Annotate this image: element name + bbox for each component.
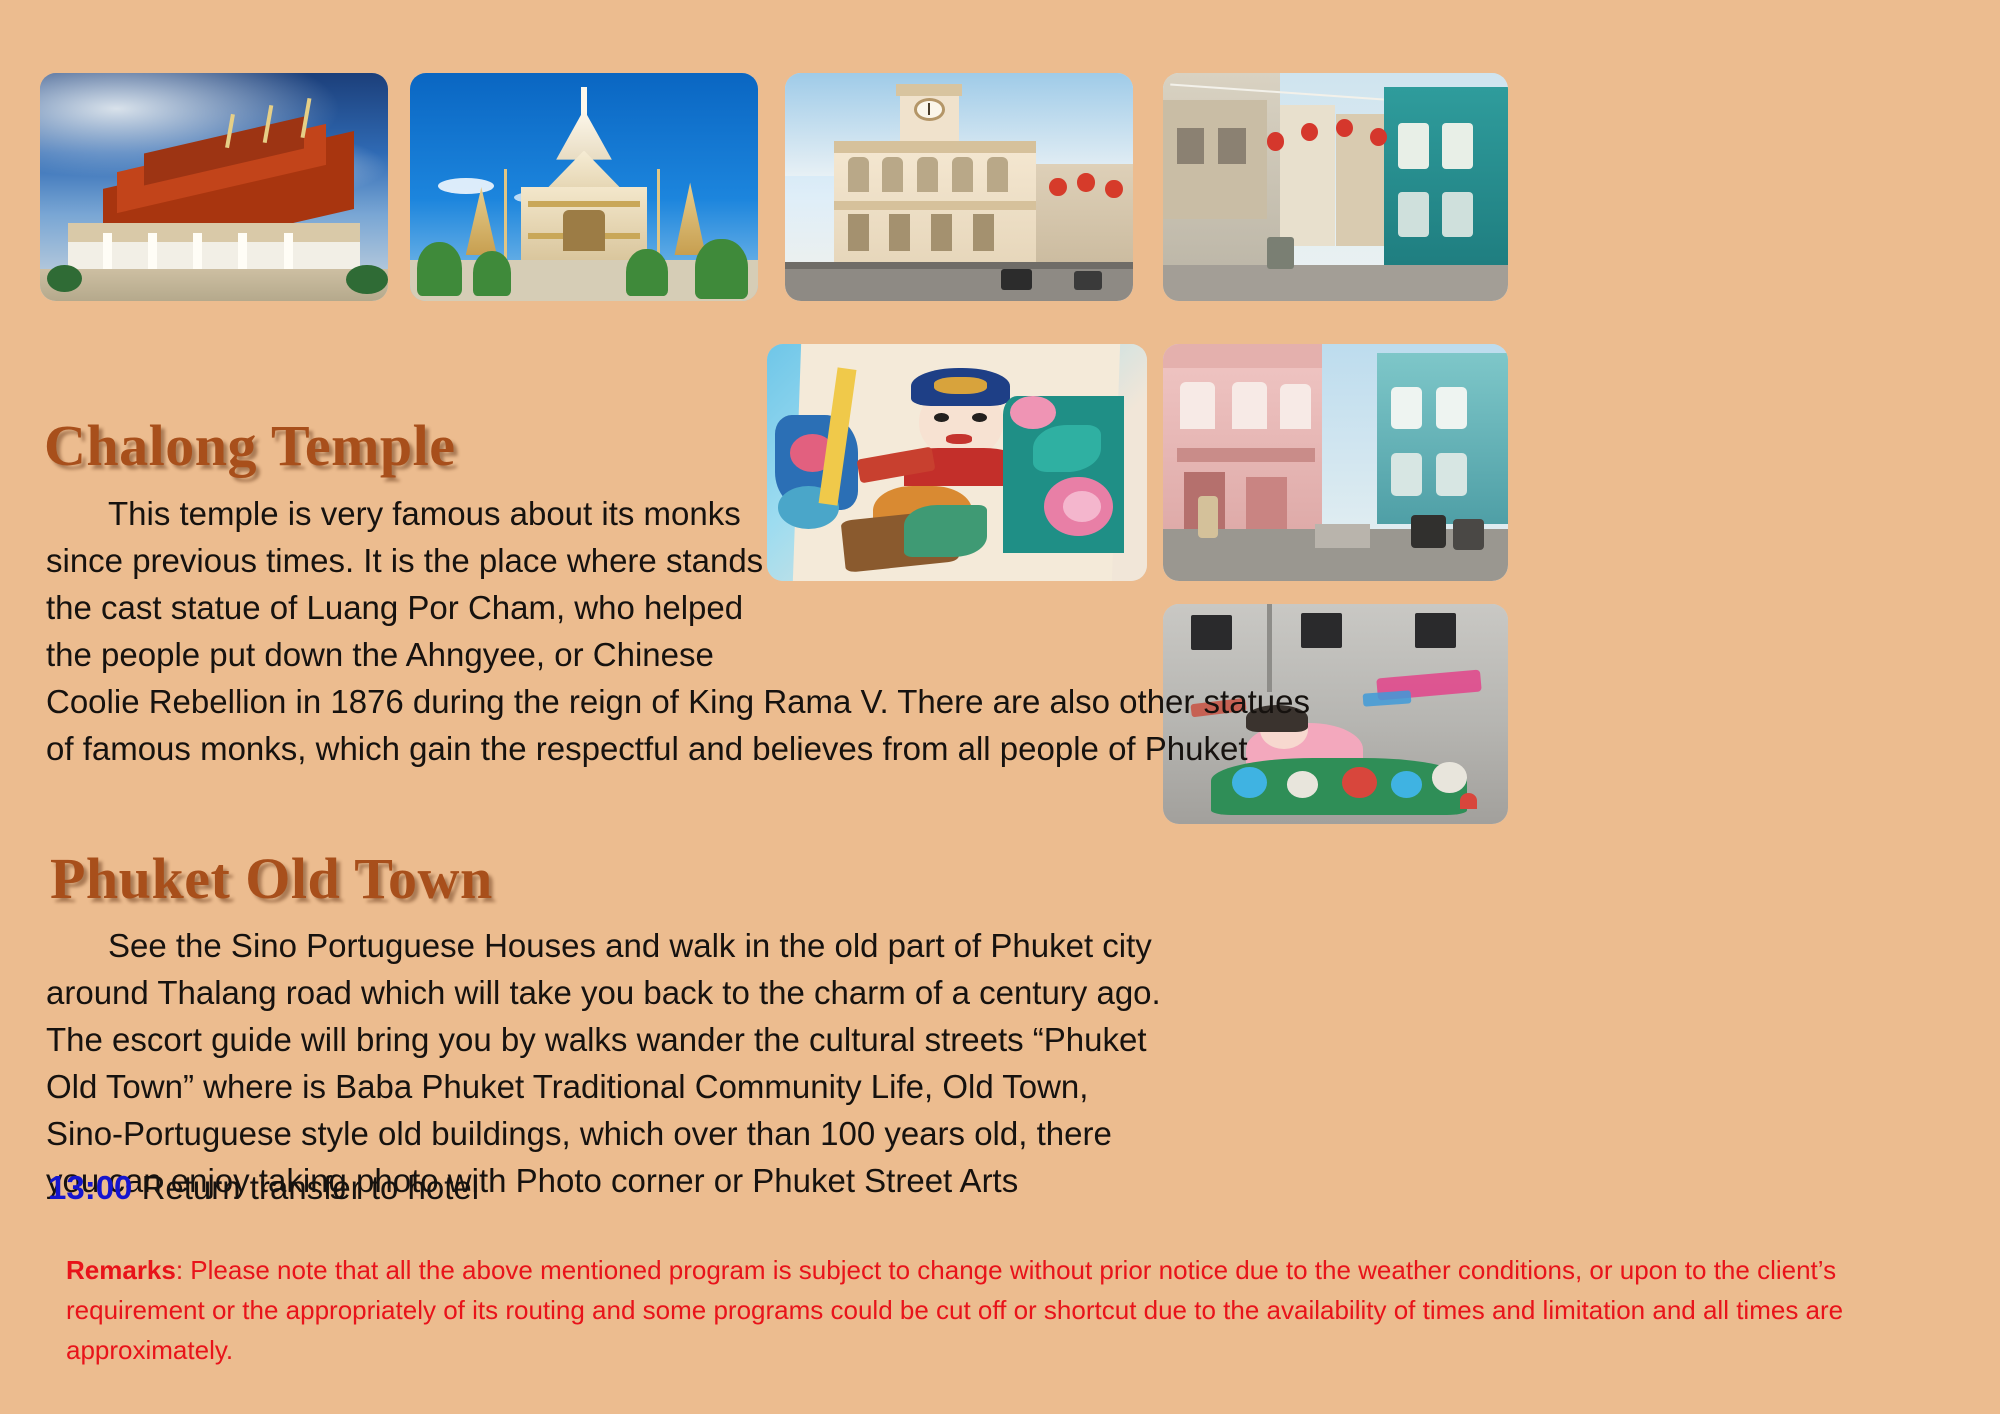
itinerary-activity: Return transfer to hotel [142, 1169, 480, 1206]
itinerary-row-return-transfer: 13:00 Return transfer to hotel [48, 1166, 479, 1210]
itinerary-activity-spacer [132, 1169, 141, 1206]
photo-chalong-temple-hall [40, 73, 388, 301]
text-wrap-spacer-chalong [796, 490, 1336, 635]
remarks-label: Remarks [66, 1255, 176, 1285]
paragraph-text: See the Sino Portuguese Houses and walk … [46, 927, 1161, 1199]
brochure-page: Chalong Temple This temple is very famou… [0, 0, 2000, 1414]
remarks-text: : Please note that all the above mention… [66, 1255, 1843, 1365]
page-title-chalong-temple: Chalong Temple [44, 412, 456, 479]
page-title-phuket-old-town: Phuket Old Town [50, 845, 493, 912]
paragraph-phuket-old-town: See the Sino Portuguese Houses and walk … [46, 922, 1161, 1204]
itinerary-time: 13:00 [48, 1169, 132, 1206]
paragraph-chalong-temple: This temple is very famous about its mon… [46, 490, 1336, 772]
remarks-block: Remarks: Please note that all the above … [66, 1250, 1906, 1370]
photo-chalong-pagoda [410, 73, 758, 301]
photo-old-town-street-colorful [1163, 73, 1508, 301]
photo-phuket-clock-tower [785, 73, 1133, 301]
